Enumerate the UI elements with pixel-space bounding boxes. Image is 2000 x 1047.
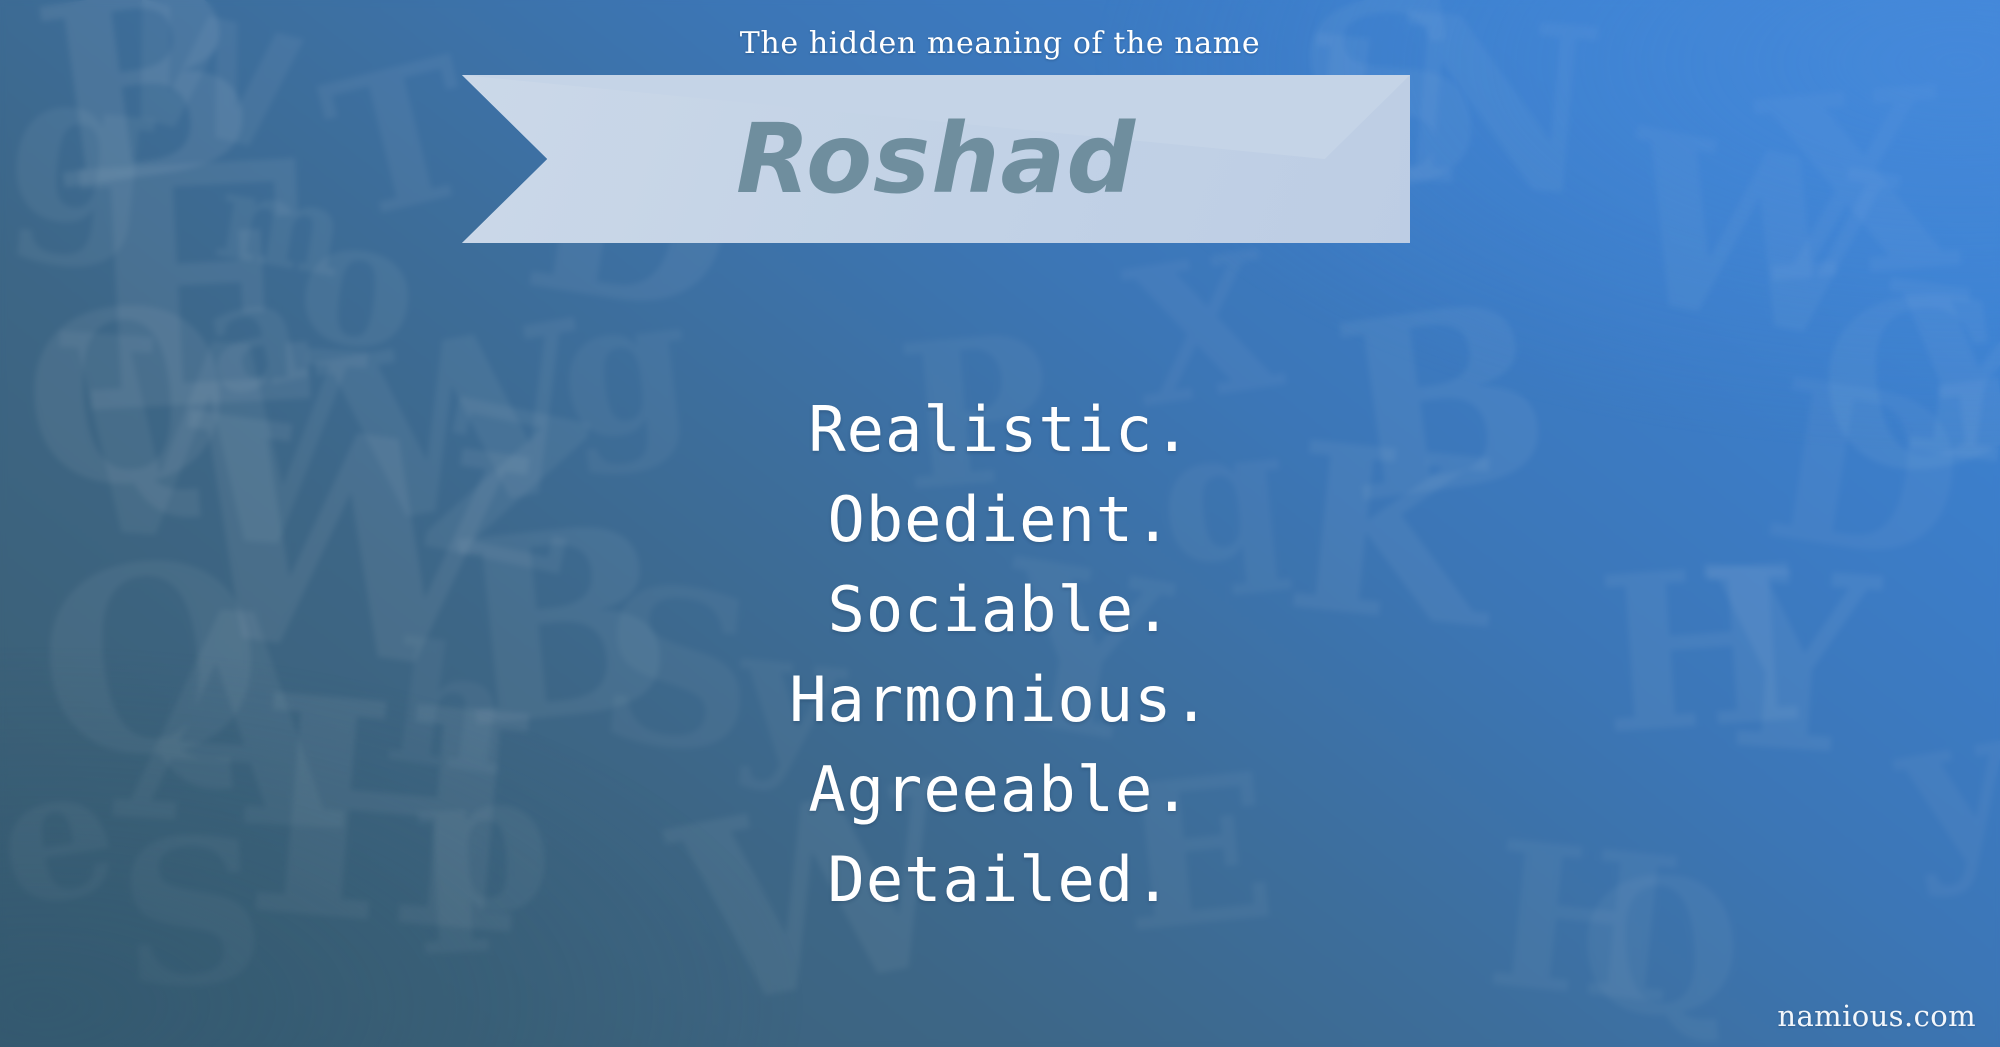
meaning-line: Sociable. (0, 565, 2000, 655)
meaning-line: Realistic. (0, 385, 2000, 475)
meaning-line: Agreeable. (0, 745, 2000, 835)
site-watermark: namious.com (1777, 999, 1976, 1033)
meaning-list: Realistic.Obedient.Sociable.Harmonious.A… (0, 385, 2000, 925)
name-text: Roshad (462, 103, 1410, 215)
meaning-line: Harmonious. (0, 655, 2000, 745)
page-title: The hidden meaning of the name (0, 26, 2000, 61)
meaning-line: Obedient. (0, 475, 2000, 565)
name-ribbon-banner: Roshad (462, 75, 1410, 243)
meaning-line: Detailed. (0, 835, 2000, 925)
name-meaning-graphic: BgEmWQWaWQAeHSToWZBhpDgSWyPYEdSNBKHYXWGY… (0, 0, 2000, 1047)
